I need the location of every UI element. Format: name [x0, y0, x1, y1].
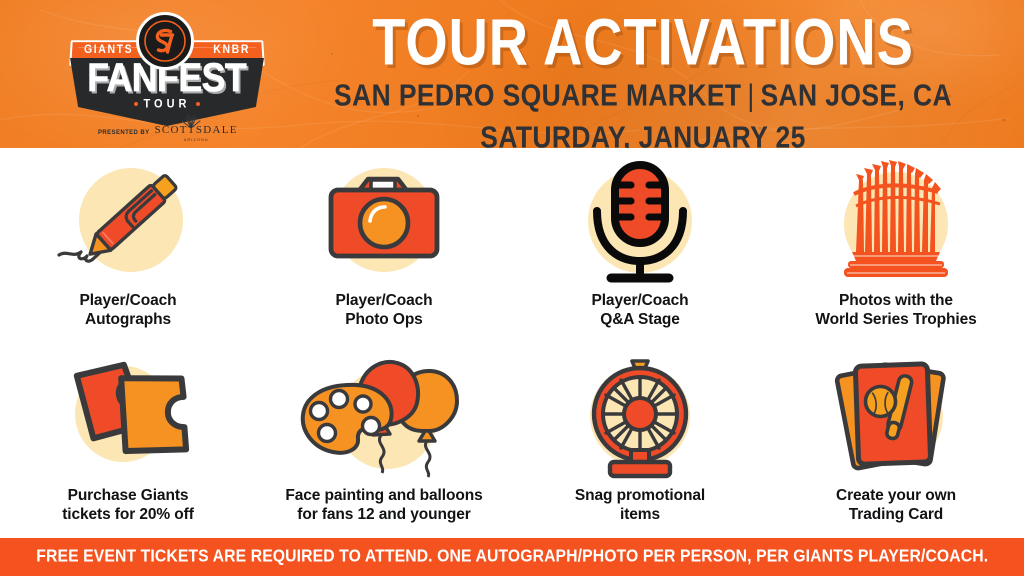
venue-line: SAN PEDRO SQUARE MARKET|SAN JOSE, CA — [295, 78, 991, 112]
footer-notice-text: FREE EVENT TICKETS ARE REQUIRED TO ATTEN… — [36, 547, 988, 567]
activation-card-trophies: Photos with the World Series Trophies — [768, 148, 1024, 343]
activation-card-photo-ops: Player/Coach Photo Ops — [256, 148, 512, 343]
activation-label: Player/Coach Autographs — [79, 291, 176, 329]
tickets-icon — [58, 355, 198, 480]
venue-separator: | — [741, 78, 760, 112]
pen-signature-icon — [58, 160, 198, 285]
venue-city: SAN JOSE, CA — [761, 78, 952, 112]
presenting-sponsor-lockup: PRESENTED BY SCOTTSDALE ARIZONA — [98, 124, 248, 142]
activation-label: Create your own Trading Card — [836, 486, 956, 524]
sf-roundel-icon — [136, 12, 194, 70]
activation-label: Player/Coach Photo Ops — [335, 291, 432, 329]
activation-label: Player/Coach Q&A Stage — [591, 291, 688, 329]
microphone-icon — [570, 160, 710, 285]
logo-banner-right-text: KNBR — [213, 43, 250, 66]
event-date: SATURDAY, JANUARY 25 — [295, 120, 991, 148]
activation-card-qa-stage: Player/Coach Q&A Stage — [512, 148, 768, 343]
activations-grid: Player/Coach Autographs Player/Coach Pho… — [0, 148, 1024, 538]
tour-wordmark-row: TOUR — [134, 98, 201, 110]
tour-dot-left-icon — [134, 102, 138, 106]
header-title-block: TOUR ACTIVATIONS SAN PEDRO SQUARE MARKET… — [288, 8, 998, 148]
venue-name: SAN PEDRO SQUARE MARKET — [334, 78, 741, 112]
sponsor-name: SCOTTSDALE — [154, 124, 237, 136]
world-series-trophy-icon — [826, 160, 966, 285]
camera-icon — [314, 160, 454, 285]
sponsor-subtitle: ARIZONA — [184, 137, 209, 142]
activation-card-promo-items: Snag promotional items — [512, 343, 768, 538]
activation-card-tickets: Purchase Giants tickets for 20% off — [0, 343, 256, 538]
activation-card-autographs: Player/Coach Autographs — [0, 148, 256, 343]
tour-dot-right-icon — [196, 102, 200, 106]
tour-wordmark: TOUR — [144, 97, 191, 110]
activation-card-trading-card: Create your own Trading Card — [768, 343, 1024, 538]
activation-label: Purchase Giants tickets for 20% off — [62, 486, 194, 524]
event-header-banner: GIANTS KNBR FANFEST TOUR — [0, 0, 1024, 148]
logo-banner-left-text: GIANTS — [84, 43, 133, 66]
prize-wheel-icon — [570, 355, 710, 480]
giants-fanfest-tour-logo: GIANTS KNBR FANFEST TOUR — [62, 6, 272, 146]
footer-notice-bar: FREE EVENT TICKETS ARE REQUIRED TO ATTEN… — [0, 538, 1024, 576]
palette-balloons-icon — [314, 355, 454, 480]
trading-cards-icon — [826, 355, 966, 480]
page-title: TOUR ACTIVATIONS — [299, 8, 988, 76]
activation-card-face-painting: Face painting and balloons for fans 12 a… — [256, 343, 512, 538]
presented-by-label: PRESENTED BY — [98, 130, 149, 136]
activation-label: Photos with the World Series Trophies — [815, 291, 976, 329]
activation-label: Snag promotional items — [575, 486, 705, 524]
activation-label: Face painting and balloons for fans 12 a… — [285, 486, 482, 524]
